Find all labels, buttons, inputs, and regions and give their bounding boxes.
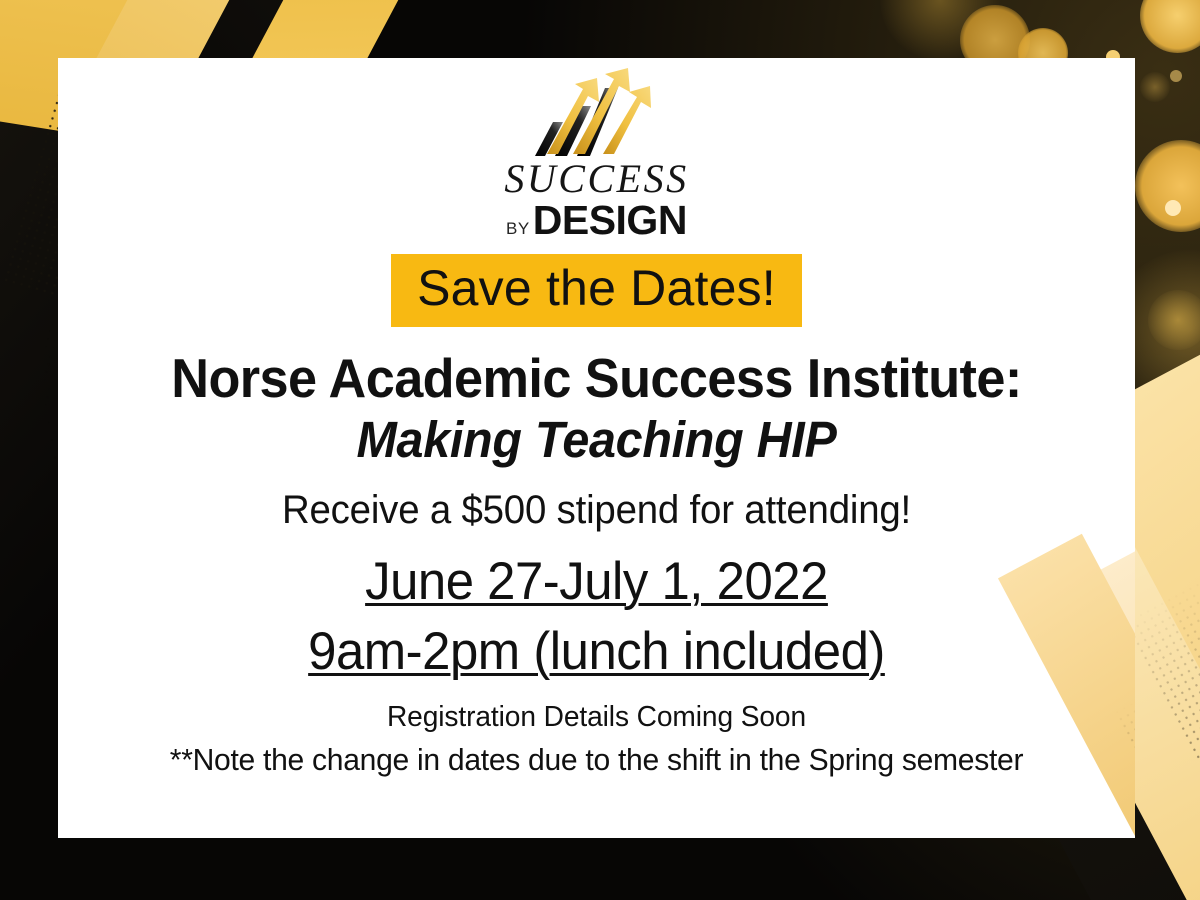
event-date: June 27-July 1, 2022 [365, 552, 828, 611]
date-change-note: **Note the change in dates due to the sh… [74, 742, 1119, 778]
rising-arrows-logo-mark [529, 66, 664, 161]
poster-canvas: SUCCESS BY DESIGN Save the Dates! Norse … [0, 0, 1200, 900]
logo-by-text: BY [506, 219, 530, 239]
poster-text-block: Save the Dates! Norse Academic Success I… [58, 254, 1135, 778]
logo-by-design-row: BY DESIGN [506, 200, 687, 241]
logo-design-text: DESIGN [533, 200, 687, 241]
save-the-dates-banner: Save the Dates! [391, 254, 802, 327]
logo-wordmark: SUCCESS BY DESIGN [504, 159, 688, 241]
event-headline: Norse Academic Success Institute: [85, 349, 1108, 407]
registration-note: Registration Details Coming Soon [74, 701, 1119, 734]
success-by-design-logo: SUCCESS BY DESIGN [58, 66, 1135, 241]
date-time-lines: June 27-July 1, 2022 9am-2pm (lunch incl… [80, 547, 1114, 687]
white-content-card: SUCCESS BY DESIGN Save the Dates! Norse … [58, 58, 1135, 838]
save-the-dates-banner-wrap: Save the Dates! [58, 254, 1135, 327]
logo-success-text: SUCCESS [504, 159, 688, 199]
event-subtitle: Making Teaching HIP [85, 411, 1108, 468]
stipend-line: Receive a $500 stipend for attending! [80, 488, 1114, 533]
event-time: 9am-2pm (lunch included) [308, 622, 885, 681]
